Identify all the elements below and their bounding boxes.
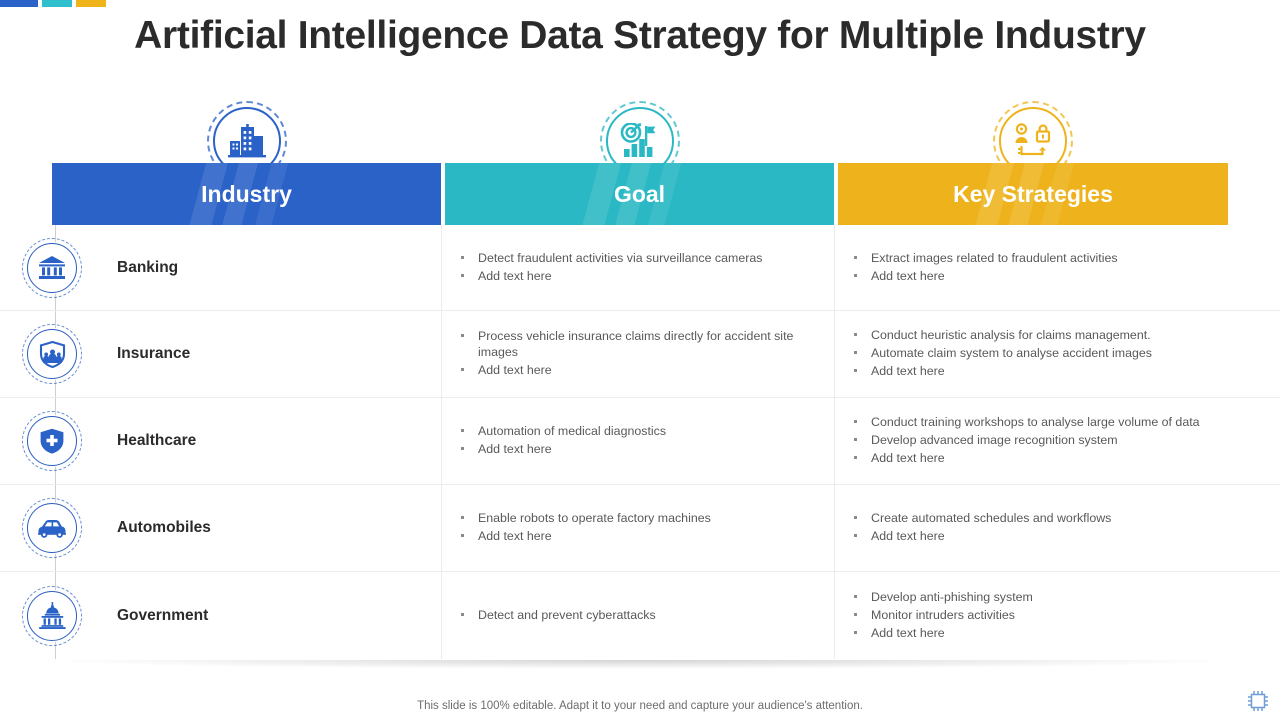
list-item: Add text here bbox=[849, 528, 1111, 544]
goal-bullets: Automation of medical diagnostics Add te… bbox=[456, 423, 666, 459]
cell-industry: Insurance bbox=[0, 311, 441, 397]
accent-bar-yellow bbox=[76, 0, 106, 7]
footer-note: This slide is 100% editable. Adapt it to… bbox=[0, 700, 1280, 712]
list-item: Conduct training workshops to analyse la… bbox=[849, 414, 1200, 430]
column-header-goal: Goal bbox=[445, 163, 834, 225]
list-item: Add text here bbox=[849, 363, 1152, 379]
goal-bullets: Detect and prevent cyberattacks bbox=[456, 607, 656, 625]
goal-bullets: Process vehicle insurance claims directl… bbox=[456, 328, 822, 380]
list-item: Enable robots to operate factory machine… bbox=[456, 510, 711, 526]
column-header-goal-label: Goal bbox=[614, 181, 665, 208]
list-item: Process vehicle insurance claims directl… bbox=[456, 328, 822, 360]
cell-industry: Healthcare bbox=[0, 398, 441, 484]
strategy-bullets: Extract images related to fraudulent act… bbox=[849, 250, 1118, 286]
list-item: Add text here bbox=[456, 268, 762, 284]
list-item: Conduct heuristic analysis for claims ma… bbox=[849, 327, 1152, 343]
list-item: Detect fraudulent activities via surveil… bbox=[456, 250, 762, 266]
strategy-bullets: Conduct training workshops to analyse la… bbox=[849, 414, 1200, 468]
list-item: Automation of medical diagnostics bbox=[456, 423, 666, 439]
list-item: Add text here bbox=[849, 625, 1033, 641]
strategy-table: Banking Detect fraudulent activities via… bbox=[0, 225, 1280, 659]
column-header-industry-label: Industry bbox=[201, 181, 292, 208]
list-item: Automate claim system to analyse acciden… bbox=[849, 345, 1152, 361]
column-headers: Industry Goal Key Strategies bbox=[0, 163, 1280, 225]
column-header-key-strategies: Key Strategies bbox=[838, 163, 1228, 225]
strategy-bullets: Conduct heuristic analysis for claims ma… bbox=[849, 327, 1152, 381]
accent-bar-teal bbox=[42, 0, 72, 7]
cell-goal: Enable robots to operate factory machine… bbox=[441, 485, 834, 571]
table-shadow bbox=[52, 660, 1228, 669]
list-item: Add text here bbox=[456, 441, 666, 457]
cell-industry: Automobiles bbox=[0, 485, 441, 571]
microchip-icon bbox=[1245, 688, 1271, 714]
car-icon bbox=[26, 502, 78, 554]
column-header-industry: Industry bbox=[52, 163, 441, 225]
list-item: Detect and prevent cyberattacks bbox=[456, 607, 656, 623]
cell-goal: Automation of medical diagnostics Add te… bbox=[441, 398, 834, 484]
list-item: Add text here bbox=[849, 450, 1200, 466]
cell-key-strategies: Extract images related to fraudulent act… bbox=[834, 225, 1228, 310]
industry-label: Government bbox=[117, 607, 208, 625]
cell-key-strategies: Conduct heuristic analysis for claims ma… bbox=[834, 311, 1228, 397]
industry-label: Insurance bbox=[117, 345, 190, 363]
goal-bullets: Enable robots to operate factory machine… bbox=[456, 510, 711, 546]
list-item: Extract images related to fraudulent act… bbox=[849, 250, 1118, 266]
table-row: Healthcare Automation of medical diagnos… bbox=[0, 398, 1280, 485]
capitol-building-icon bbox=[26, 590, 78, 642]
cell-key-strategies: Create automated schedules and workflows… bbox=[834, 485, 1228, 571]
strategy-bullets: Develop anti-phishing system Monitor int… bbox=[849, 589, 1033, 643]
list-item: Add text here bbox=[456, 528, 711, 544]
accent-bars bbox=[0, 0, 106, 7]
cell-key-strategies: Develop anti-phishing system Monitor int… bbox=[834, 572, 1228, 659]
slide-root: Artificial Intelligence Data Strategy fo… bbox=[0, 0, 1280, 720]
list-item: Develop anti-phishing system bbox=[849, 589, 1033, 605]
goal-bullets: Detect fraudulent activities via surveil… bbox=[456, 250, 762, 286]
industry-label: Healthcare bbox=[117, 432, 196, 450]
cell-goal: Detect fraudulent activities via surveil… bbox=[441, 225, 834, 310]
cell-goal: Detect and prevent cyberattacks bbox=[441, 572, 834, 659]
cell-key-strategies: Conduct training workshops to analyse la… bbox=[834, 398, 1228, 484]
industry-label: Banking bbox=[117, 259, 178, 277]
strategy-bullets: Create automated schedules and workflows… bbox=[849, 510, 1111, 546]
cell-industry: Government bbox=[0, 572, 441, 659]
cell-industry: Banking bbox=[0, 225, 441, 310]
list-item: Add text here bbox=[849, 268, 1118, 284]
industry-label: Automobiles bbox=[117, 519, 211, 537]
table-row: Automobiles Enable robots to operate fac… bbox=[0, 485, 1280, 572]
bank-building-icon bbox=[26, 242, 78, 294]
list-item: Create automated schedules and workflows bbox=[849, 510, 1111, 526]
list-item: Monitor intruders activities bbox=[849, 607, 1033, 623]
page-title: Artificial Intelligence Data Strategy fo… bbox=[0, 14, 1280, 58]
cell-goal: Process vehicle insurance claims directl… bbox=[441, 311, 834, 397]
table-row: Insurance Process vehicle insurance clai… bbox=[0, 311, 1280, 398]
table-row: Government Detect and prevent cyberattac… bbox=[0, 572, 1280, 659]
list-item: Develop advanced image recognition syste… bbox=[849, 432, 1200, 448]
accent-bar-blue bbox=[0, 0, 38, 7]
table-row: Banking Detect fraudulent activities via… bbox=[0, 225, 1280, 311]
column-header-key-strategies-label: Key Strategies bbox=[953, 181, 1113, 208]
list-item: Add text here bbox=[456, 362, 822, 378]
shield-plus-medical-icon bbox=[26, 415, 78, 467]
shield-family-icon bbox=[26, 328, 78, 380]
